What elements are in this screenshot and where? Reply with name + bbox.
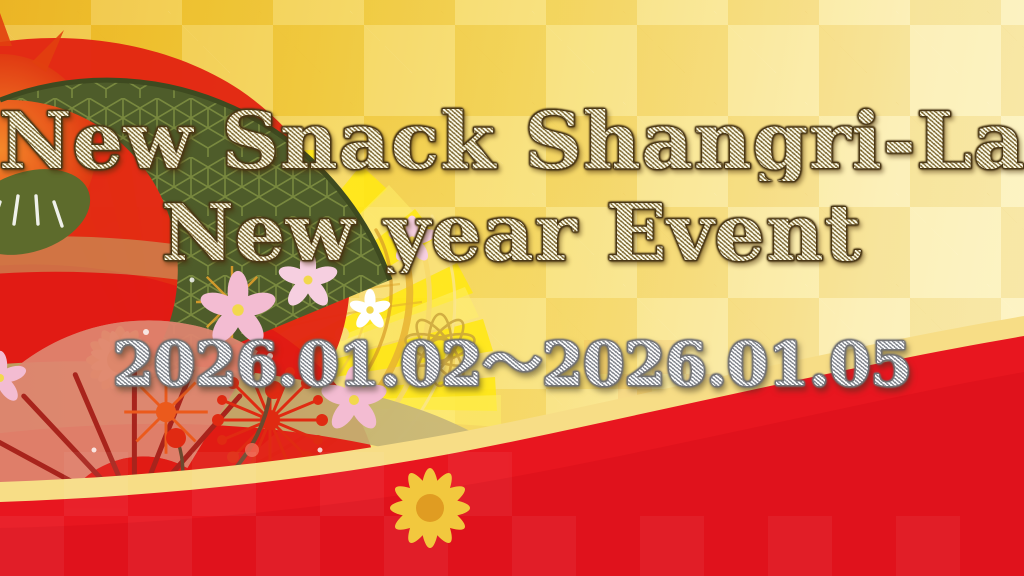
bottom-red-wave [0,276,1024,576]
new-year-event-banner: New Snack Shangri-La New year Event 2026… [0,0,1024,576]
